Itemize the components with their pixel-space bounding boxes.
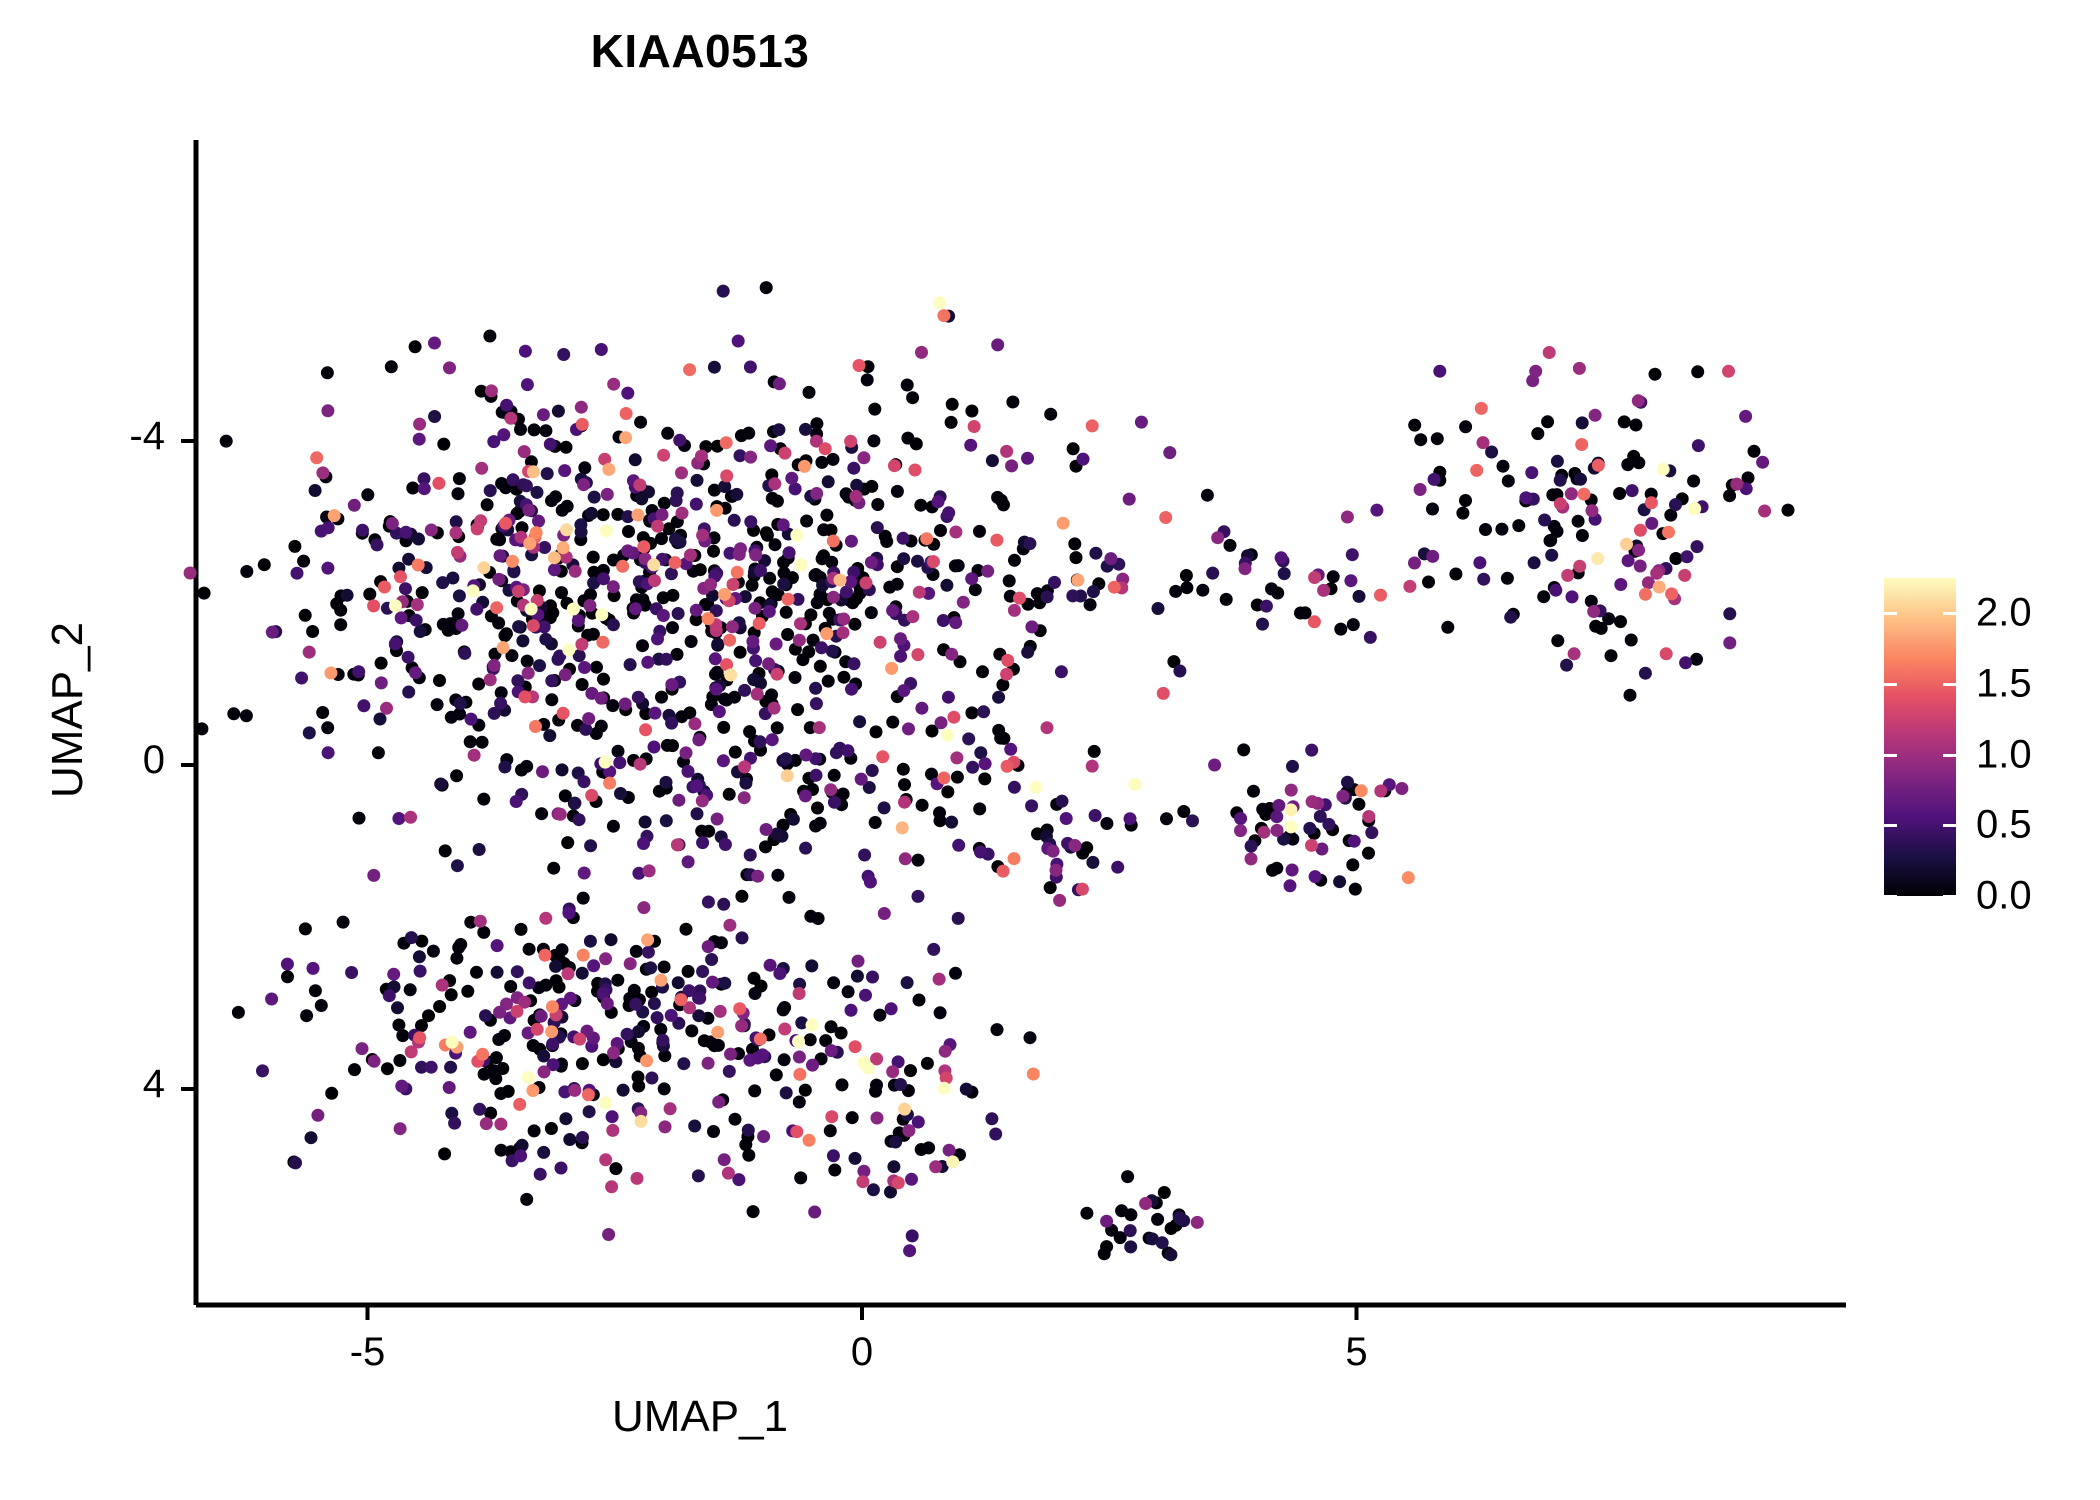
scatter-point bbox=[1080, 1207, 1093, 1220]
scatter-point bbox=[1086, 419, 1099, 432]
scatter-point bbox=[806, 1059, 819, 1072]
scatter-point bbox=[669, 556, 682, 569]
scatter-point bbox=[846, 1111, 859, 1124]
scatter-point bbox=[841, 744, 854, 757]
scatter-point bbox=[1645, 517, 1658, 530]
scatter-point bbox=[1669, 498, 1682, 511]
scatter-point bbox=[991, 491, 1004, 504]
scatter-point bbox=[1271, 824, 1284, 837]
scatter-point bbox=[299, 609, 312, 622]
scatter-point bbox=[729, 1113, 742, 1126]
scatter-point bbox=[413, 418, 426, 431]
scatter-point bbox=[606, 699, 619, 712]
scatter-point bbox=[437, 618, 450, 631]
scatter-point bbox=[391, 1001, 404, 1014]
scatter-point bbox=[865, 480, 878, 493]
scatter-plot-canvas bbox=[0, 0, 2100, 1500]
scatter-point bbox=[813, 721, 826, 734]
scatter-point bbox=[562, 967, 575, 980]
scatter-point bbox=[266, 626, 279, 639]
scatter-point bbox=[1124, 812, 1137, 825]
scatter-point bbox=[723, 634, 736, 647]
scatter-point bbox=[607, 820, 620, 833]
scatter-point bbox=[521, 378, 534, 391]
scatter-point bbox=[702, 825, 715, 838]
scatter-point bbox=[622, 525, 635, 538]
scatter-point bbox=[632, 1080, 645, 1093]
y-tick-label: -4 bbox=[45, 414, 165, 459]
scatter-point bbox=[973, 802, 986, 815]
scatter-point bbox=[665, 717, 678, 730]
scatter-point bbox=[577, 478, 590, 491]
scatter-point bbox=[1005, 459, 1018, 472]
scatter-point bbox=[934, 524, 947, 537]
scatter-point bbox=[445, 988, 458, 1001]
scatter-point bbox=[488, 1064, 501, 1077]
scatter-point bbox=[412, 533, 425, 546]
scatter-point bbox=[785, 472, 798, 485]
scatter-point bbox=[828, 769, 841, 782]
scatter-point bbox=[258, 558, 271, 571]
scatter-point bbox=[932, 495, 945, 508]
scatter-point bbox=[860, 576, 873, 589]
scatter-point bbox=[522, 504, 535, 517]
scatter-point bbox=[804, 608, 817, 621]
scatter-point bbox=[901, 379, 914, 392]
scatter-point bbox=[494, 549, 507, 562]
scatter-point bbox=[874, 636, 887, 649]
scatter-point bbox=[850, 490, 863, 503]
scatter-point bbox=[799, 1084, 812, 1097]
scatter-point bbox=[743, 725, 756, 738]
scatter-point bbox=[281, 970, 294, 983]
scatter-point bbox=[749, 654, 762, 667]
scatter-point bbox=[1121, 1170, 1134, 1183]
scatter-point bbox=[1614, 615, 1627, 628]
scatter-point bbox=[227, 707, 240, 720]
scatter-point bbox=[1089, 547, 1102, 560]
scatter-point bbox=[1294, 607, 1307, 620]
colorbar-tick-mark bbox=[1943, 754, 1956, 757]
scatter-point bbox=[510, 795, 523, 808]
scatter-point bbox=[1224, 539, 1237, 552]
scatter-point bbox=[387, 968, 400, 981]
scatter-point bbox=[1551, 455, 1564, 468]
scatter-point bbox=[764, 439, 777, 452]
scatter-point bbox=[685, 635, 698, 648]
scatter-point bbox=[1322, 818, 1335, 831]
scatter-point bbox=[1086, 856, 1099, 869]
scatter-point bbox=[927, 555, 940, 568]
scatter-point bbox=[717, 754, 730, 767]
axis-lines bbox=[196, 140, 1846, 1305]
colorbar-tick-label: 1.0 bbox=[1976, 732, 2032, 777]
scatter-point bbox=[645, 1072, 658, 1085]
scatter-point bbox=[780, 1086, 793, 1099]
scatter-point bbox=[288, 540, 301, 553]
scatter-point bbox=[1669, 552, 1682, 565]
scatter-point bbox=[727, 578, 740, 591]
scatter-point bbox=[1723, 636, 1736, 649]
scatter-point bbox=[746, 635, 759, 648]
scatter-point bbox=[560, 523, 573, 536]
scatter-point bbox=[535, 1010, 548, 1023]
scatter-point bbox=[1497, 460, 1510, 473]
scatter-point bbox=[310, 451, 323, 464]
scatter-point bbox=[793, 987, 806, 1000]
scatter-point bbox=[649, 707, 662, 720]
scatter-point bbox=[1586, 504, 1599, 517]
scatter-point bbox=[1605, 649, 1618, 662]
scatter-point bbox=[1422, 576, 1435, 589]
scatter-point bbox=[385, 360, 398, 373]
scatter-point bbox=[768, 477, 781, 490]
scatter-point bbox=[790, 529, 803, 542]
scatter-point bbox=[1180, 569, 1193, 582]
scatter-point bbox=[814, 817, 827, 830]
scatter-point bbox=[1024, 1031, 1037, 1044]
scatter-point bbox=[584, 935, 597, 948]
scatter-point bbox=[717, 898, 730, 911]
scatter-point bbox=[305, 1131, 318, 1144]
scatter-point bbox=[749, 987, 762, 1000]
scatter-point bbox=[348, 499, 361, 512]
scatter-point bbox=[1614, 578, 1627, 591]
scatter-point bbox=[431, 698, 444, 711]
scatter-point bbox=[1748, 445, 1761, 458]
scatter-point bbox=[494, 697, 507, 710]
scatter-point bbox=[731, 566, 744, 579]
scatter-point bbox=[1565, 487, 1578, 500]
scatter-point bbox=[672, 976, 685, 989]
scatter-point bbox=[628, 984, 641, 997]
scatter-point bbox=[706, 976, 719, 989]
scatter-point bbox=[669, 533, 682, 546]
scatter-point bbox=[951, 771, 964, 784]
scatter-point bbox=[1428, 473, 1441, 486]
scatter-point bbox=[599, 756, 612, 769]
scatter-point bbox=[394, 570, 407, 583]
colorbar-tick-label: 2.0 bbox=[1976, 591, 2032, 636]
scatter-point bbox=[1723, 607, 1736, 620]
scatter-point bbox=[556, 943, 569, 956]
scatter-point bbox=[518, 445, 531, 458]
scatter-point bbox=[315, 999, 328, 1012]
scatter-point bbox=[680, 746, 693, 759]
scatter-point bbox=[815, 456, 828, 469]
scatter-point bbox=[660, 814, 673, 827]
scatter-point bbox=[674, 993, 687, 1006]
scatter-point bbox=[1234, 824, 1247, 837]
scatter-point bbox=[682, 965, 695, 978]
scatter-point bbox=[711, 638, 724, 651]
scatter-point bbox=[912, 890, 925, 903]
scatter-point bbox=[641, 933, 654, 946]
scatter-point bbox=[1169, 585, 1182, 598]
scatter-point bbox=[764, 959, 777, 972]
scatter-point bbox=[477, 926, 490, 939]
scatter-point bbox=[306, 625, 319, 638]
scatter-point bbox=[511, 1005, 524, 1018]
scatter-point bbox=[444, 1061, 457, 1074]
scatter-point bbox=[1285, 820, 1298, 833]
scatter-point bbox=[281, 958, 294, 971]
scatter-point bbox=[530, 526, 543, 539]
scatter-point bbox=[568, 1084, 581, 1097]
scatter-point bbox=[866, 764, 879, 777]
scatter-point bbox=[1632, 394, 1645, 407]
scatter-point bbox=[612, 745, 625, 758]
scatter-point bbox=[630, 945, 643, 958]
scatter-point bbox=[527, 465, 540, 478]
scatter-point bbox=[837, 613, 850, 626]
scatter-point bbox=[198, 587, 211, 600]
scatter-point bbox=[436, 576, 449, 589]
scatter-point bbox=[870, 1079, 883, 1092]
scatter-point bbox=[806, 1019, 819, 1032]
scatter-point bbox=[1574, 473, 1587, 486]
scatter-point bbox=[402, 686, 415, 699]
scatter-point bbox=[723, 919, 736, 932]
scatter-point bbox=[749, 548, 762, 561]
scatter-point bbox=[1303, 822, 1316, 835]
scatter-point bbox=[991, 338, 1004, 351]
scatter-point bbox=[1067, 442, 1080, 455]
scatter-point bbox=[555, 1162, 568, 1175]
scatter-point bbox=[772, 423, 785, 436]
scatter-point bbox=[1284, 803, 1297, 816]
scatter-point bbox=[720, 436, 733, 449]
scatter-point bbox=[528, 423, 541, 436]
scatter-point bbox=[950, 751, 963, 764]
scatter-point bbox=[1408, 419, 1421, 432]
scatter-point bbox=[492, 617, 505, 630]
scatter-point bbox=[696, 836, 709, 849]
scatter-point bbox=[722, 1167, 735, 1180]
scatter-point bbox=[1512, 519, 1525, 532]
colorbar-tick-mark bbox=[1943, 895, 1956, 898]
scatter-point bbox=[658, 1082, 671, 1095]
scatter-point bbox=[1135, 416, 1148, 429]
scatter-point bbox=[324, 667, 337, 680]
scatter-point bbox=[665, 567, 678, 580]
scatter-point bbox=[957, 596, 970, 609]
scatter-point bbox=[1000, 445, 1013, 458]
scatter-point bbox=[539, 912, 552, 925]
scatter-point bbox=[717, 285, 730, 298]
scatter-point bbox=[1057, 517, 1070, 530]
scatter-point bbox=[1159, 511, 1172, 524]
scatter-point bbox=[1128, 778, 1141, 791]
scatter-point bbox=[602, 1228, 615, 1241]
scatter-point bbox=[655, 691, 668, 704]
scatter-point bbox=[494, 1118, 507, 1131]
scatter-point bbox=[256, 1064, 269, 1077]
scatter-point bbox=[905, 1173, 918, 1186]
scatter-point bbox=[760, 526, 773, 539]
scatter-point bbox=[657, 609, 670, 622]
scatter-point bbox=[363, 588, 376, 601]
scatter-point bbox=[1355, 784, 1368, 797]
scatter-point bbox=[808, 1206, 821, 1219]
scatter-point bbox=[690, 498, 703, 511]
scatter-point bbox=[321, 366, 334, 379]
scatter-point bbox=[1206, 567, 1219, 580]
scatter-point bbox=[537, 1146, 550, 1159]
scatter-point bbox=[1030, 781, 1043, 794]
scatter-point bbox=[791, 703, 804, 716]
scatter-point bbox=[898, 778, 911, 791]
scatter-point bbox=[696, 529, 709, 542]
scatter-point bbox=[1070, 551, 1083, 564]
scatter-point bbox=[965, 572, 978, 585]
scatter-point bbox=[913, 994, 926, 1007]
scatter-point bbox=[692, 733, 705, 746]
scatter-point bbox=[1108, 581, 1121, 594]
scatter-point bbox=[897, 763, 910, 776]
scatter-point bbox=[1473, 556, 1486, 569]
scatter-point bbox=[576, 1057, 589, 1070]
scatter-point bbox=[481, 498, 494, 511]
scatter-point bbox=[1027, 1068, 1040, 1081]
scatter-point bbox=[631, 1172, 644, 1185]
scatter-point bbox=[1234, 812, 1247, 825]
scatter-point bbox=[634, 416, 647, 429]
scatter-point bbox=[1220, 593, 1233, 606]
scatter-point bbox=[787, 813, 800, 826]
scatter-point bbox=[520, 479, 533, 492]
scatter-point bbox=[1560, 659, 1573, 672]
scatter-point bbox=[1592, 459, 1605, 472]
scatter-point bbox=[578, 775, 591, 788]
scatter-point bbox=[760, 823, 773, 836]
scatter-point bbox=[378, 581, 391, 594]
scatter-point bbox=[800, 749, 813, 762]
x-axis-label: UMAP_1 bbox=[0, 1392, 1400, 1442]
scatter-point bbox=[749, 602, 762, 615]
scatter-point bbox=[778, 1023, 791, 1036]
scatter-point bbox=[1115, 1204, 1128, 1217]
scatter-point bbox=[443, 361, 456, 374]
scatter-point bbox=[1025, 620, 1038, 633]
scatter-point bbox=[451, 546, 464, 559]
scatter-point bbox=[770, 638, 783, 651]
scatter-point bbox=[470, 603, 483, 616]
scatter-point bbox=[671, 838, 684, 851]
scatter-point bbox=[1395, 782, 1408, 795]
scatter-point bbox=[1000, 668, 1013, 681]
scatter-point bbox=[744, 515, 757, 528]
scatter-point bbox=[891, 578, 904, 591]
scatter-point bbox=[644, 961, 657, 974]
scatter-point bbox=[375, 657, 388, 670]
scatter-point bbox=[759, 840, 772, 853]
scatter-point bbox=[780, 606, 793, 619]
scatter-point bbox=[413, 433, 426, 446]
scatter-point bbox=[411, 598, 424, 611]
scatter-point bbox=[901, 432, 914, 445]
scatter-point bbox=[1662, 526, 1675, 539]
scatter-point bbox=[322, 746, 335, 759]
scatter-point bbox=[534, 1168, 547, 1181]
scatter-point bbox=[691, 474, 704, 487]
scatter-point bbox=[504, 412, 517, 425]
scatter-point bbox=[468, 749, 481, 762]
scatter-point bbox=[265, 993, 278, 1006]
scatter-point bbox=[1245, 852, 1258, 865]
scatter-point bbox=[1687, 475, 1700, 488]
scatter-point bbox=[997, 865, 1010, 878]
scatter-point bbox=[393, 1054, 406, 1067]
scatter-point bbox=[965, 706, 978, 719]
scatter-point bbox=[413, 950, 426, 963]
scatter-point bbox=[656, 1034, 669, 1047]
scatter-point bbox=[852, 955, 865, 968]
scatter-point bbox=[582, 1088, 595, 1101]
scatter-point bbox=[946, 398, 959, 411]
scatter-point bbox=[696, 965, 709, 978]
scatter-point bbox=[799, 789, 812, 802]
scatter-point bbox=[1479, 523, 1492, 536]
scatter-point bbox=[1071, 574, 1084, 587]
scatter-point bbox=[778, 447, 791, 460]
scatter-point bbox=[619, 698, 632, 711]
scatter-point bbox=[1152, 602, 1165, 615]
scatter-point bbox=[584, 839, 597, 852]
scatter-point bbox=[735, 890, 748, 903]
scatter-point bbox=[765, 688, 778, 701]
scatter-point bbox=[1158, 1186, 1171, 1199]
scatter-point bbox=[583, 1105, 596, 1118]
scatter-point bbox=[1001, 760, 1014, 773]
scatter-point bbox=[933, 806, 946, 819]
scatter-point bbox=[728, 514, 741, 527]
scatter-point bbox=[946, 1155, 959, 1168]
scatter-point bbox=[724, 669, 737, 682]
scatter-point bbox=[794, 1171, 807, 1184]
scatter-point bbox=[642, 946, 655, 959]
scatter-point bbox=[751, 688, 764, 701]
scatter-point bbox=[477, 561, 490, 574]
scatter-point bbox=[416, 586, 429, 599]
scatter-point bbox=[1173, 1211, 1186, 1224]
scatter-point bbox=[1341, 511, 1354, 524]
scatter-point bbox=[1591, 552, 1604, 565]
scatter-point bbox=[367, 869, 380, 882]
scatter-point bbox=[553, 981, 566, 994]
scatter-point bbox=[894, 632, 907, 645]
scatter-point bbox=[945, 416, 958, 429]
scatter-point bbox=[714, 1005, 727, 1018]
scatter-point bbox=[933, 973, 946, 986]
scatter-point bbox=[648, 574, 661, 587]
scatter-point bbox=[494, 1087, 507, 1100]
scatter-point bbox=[458, 647, 471, 660]
scatter-point bbox=[507, 473, 520, 486]
scatter-point bbox=[325, 1087, 338, 1100]
x-tick-label: 5 bbox=[1297, 1330, 1417, 1375]
scatter-point bbox=[1549, 584, 1562, 597]
scatter-point bbox=[773, 377, 786, 390]
scatter-point bbox=[1164, 1248, 1177, 1261]
scatter-point bbox=[548, 563, 561, 576]
scatter-point bbox=[670, 494, 683, 507]
colorbar-gradient bbox=[1884, 578, 1956, 896]
scatter-point bbox=[1186, 814, 1199, 827]
scatter-point bbox=[760, 281, 773, 294]
scatter-point bbox=[637, 837, 650, 850]
scatter-point bbox=[1341, 776, 1354, 789]
